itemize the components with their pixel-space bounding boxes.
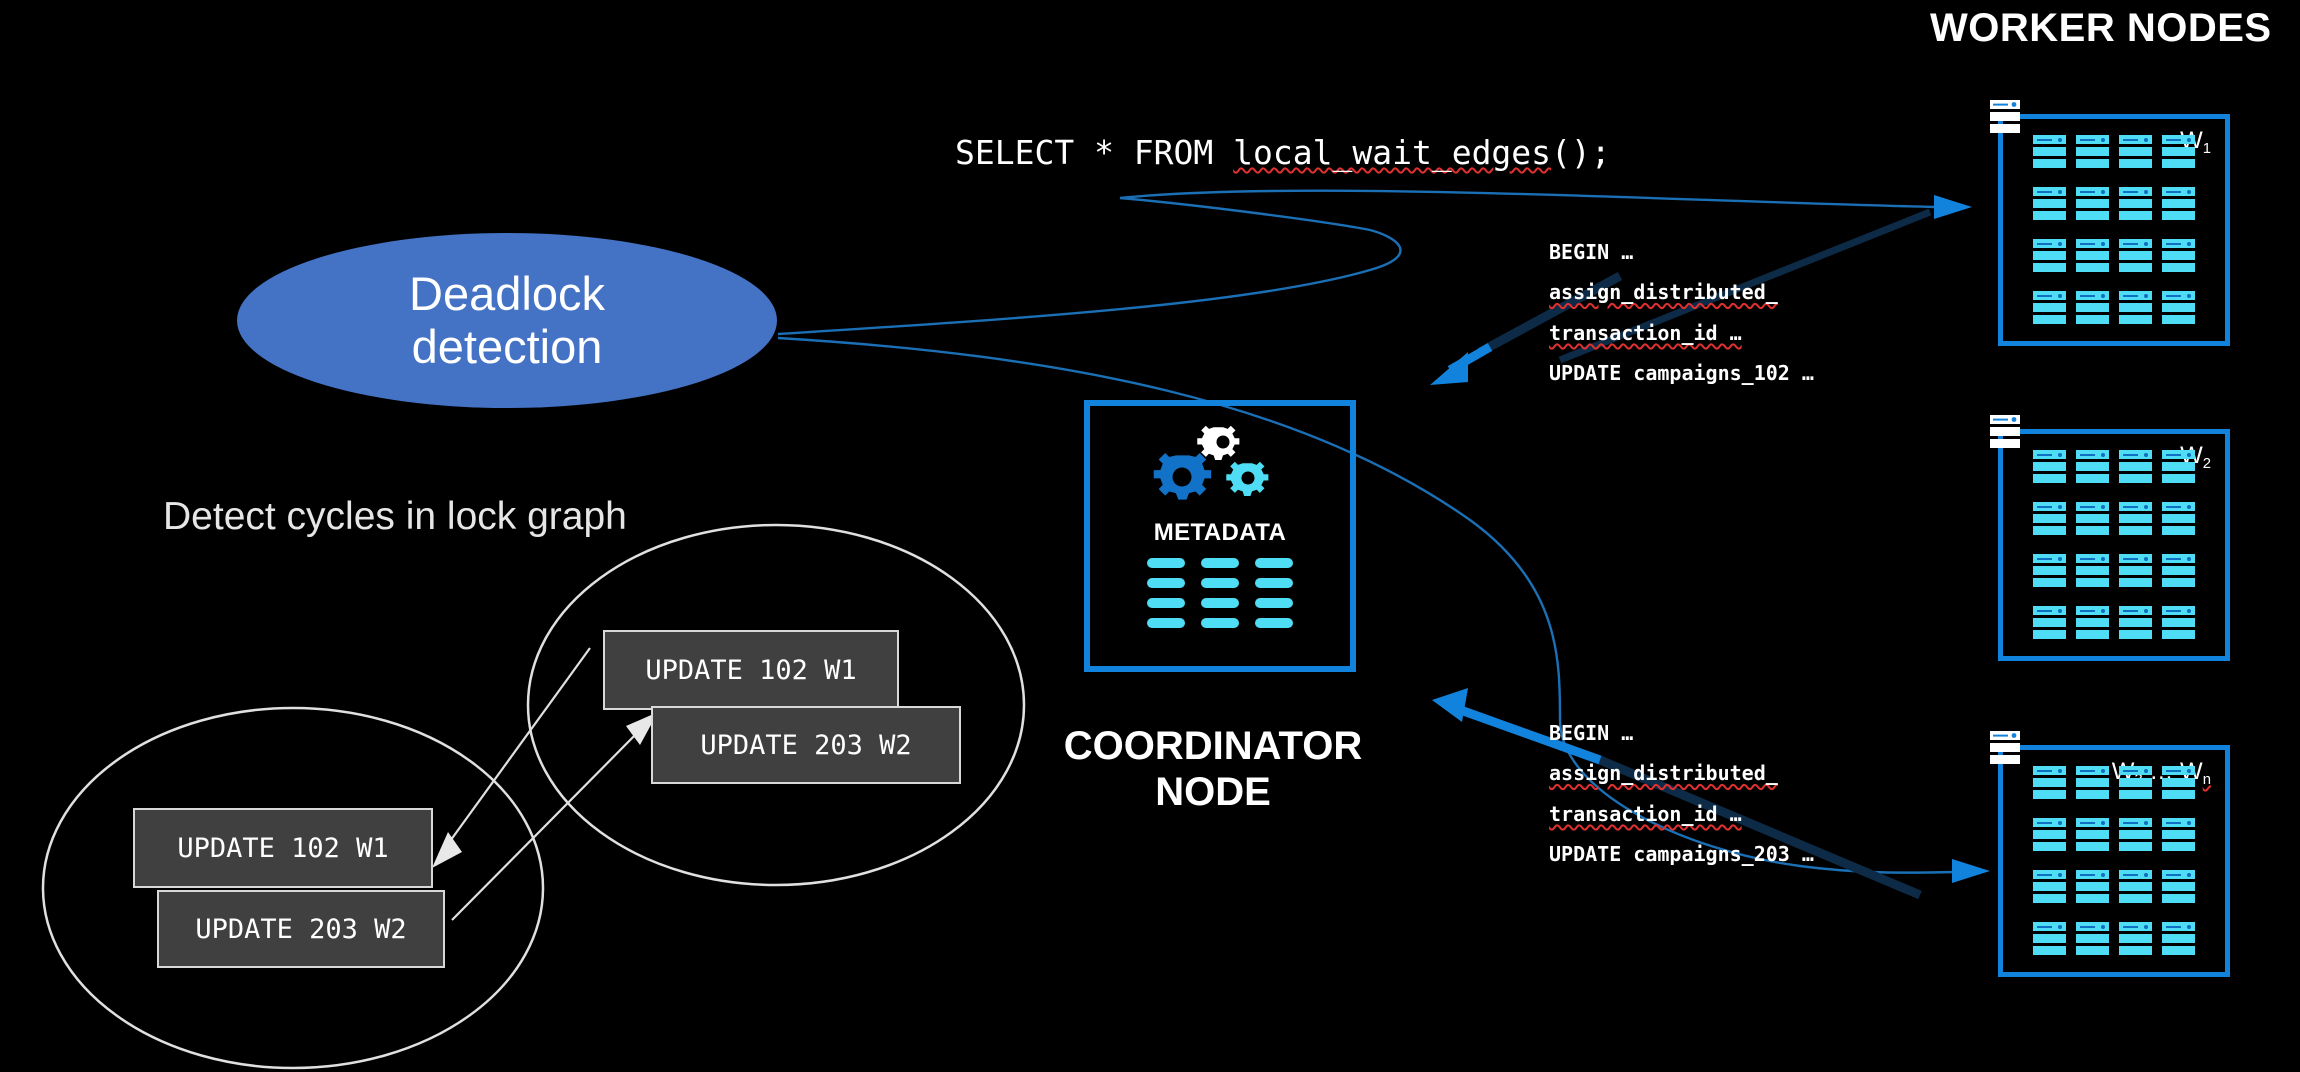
shard-block [2119, 922, 2152, 956]
shard-block [2033, 502, 2066, 536]
shard-block [2162, 870, 2195, 904]
shard-row [2162, 526, 2195, 535]
shard-header [2119, 291, 2152, 300]
shard-row [2162, 882, 2195, 891]
shard-row [2162, 199, 2195, 208]
shard-row [2076, 578, 2109, 587]
shard-header [2162, 187, 2195, 196]
shard-row [2119, 618, 2152, 627]
worker-nodes-title: WORKER NODES [1930, 6, 2272, 51]
shard-block [2076, 450, 2109, 484]
shard-row [2119, 147, 2152, 156]
shard-block [2076, 818, 2109, 852]
shard-row [2033, 251, 2066, 260]
lock-edge-a1-to-b1 [440, 648, 590, 855]
shard-row [2076, 842, 2109, 851]
arrowhead-into-worker1 [1934, 195, 1972, 219]
shard-row [2033, 934, 2066, 943]
shard-block [2076, 922, 2109, 956]
lock-node-b1[interactable]: UPDATE 102 W1 [133, 808, 433, 888]
shard-block [2076, 766, 2109, 800]
shard-row [2076, 211, 2109, 220]
shard-header [2076, 239, 2109, 248]
shard-row [2162, 618, 2195, 627]
shard-row [2076, 934, 2109, 943]
metadata-bar [1201, 598, 1239, 608]
shard-grid-1 [2033, 135, 2195, 325]
deadlock-detection-ellipse[interactable]: Deadlock detection [237, 233, 777, 408]
shard-block [2162, 135, 2195, 169]
shard-header [2119, 239, 2152, 248]
shard-row [2162, 842, 2195, 851]
shard-block [2119, 239, 2152, 273]
shard-row [2076, 830, 2109, 839]
shard-row [2033, 462, 2066, 471]
worker-node-card-2[interactable]: W2 [1998, 429, 2230, 661]
shard-row [2033, 882, 2066, 891]
shard-header [2119, 554, 2152, 563]
shard-row [2033, 211, 2066, 220]
shard-block [2033, 922, 2066, 956]
shard-row [2033, 514, 2066, 523]
txn102-line-2-wrap: transaction_id … [1549, 313, 1814, 353]
sql-function-name: local_wait_edges [1233, 133, 1551, 172]
shard-row [2076, 199, 2109, 208]
metadata-bar [1201, 558, 1239, 568]
metadata-bar [1255, 598, 1293, 608]
shard-block [2033, 291, 2066, 325]
shard-block [2119, 766, 2152, 800]
shard-row [2076, 894, 2109, 903]
shard-block [2119, 291, 2152, 325]
shard-row [2076, 618, 2109, 627]
shard-block [2033, 135, 2066, 169]
sql-prefix: SELECT * FROM [955, 133, 1233, 172]
shard-header [2162, 291, 2195, 300]
txn203-line-0: BEGIN … [1549, 713, 1814, 753]
shard-row [2162, 514, 2195, 523]
txn102-line-3: UPDATE campaigns_102 … [1549, 353, 1814, 393]
shard-header [2076, 187, 2109, 196]
shard-block [2076, 135, 2109, 169]
detect-cycles-caption: Detect cycles in lock graph [163, 495, 627, 539]
shard-header [2162, 239, 2195, 248]
shard-block [2033, 606, 2066, 640]
shard-row [2162, 159, 2195, 168]
shard-header [2162, 870, 2195, 879]
shard-row [2162, 630, 2195, 639]
shard-header [2033, 291, 2066, 300]
shard-block [2162, 291, 2195, 325]
shard-block [2033, 870, 2066, 904]
transaction-snippet-102: BEGIN … assign_distributed_ transaction_… [1549, 232, 1814, 394]
shard-row [2033, 830, 2066, 839]
shard-row [2076, 315, 2109, 324]
lock-node-a1[interactable]: UPDATE 102 W1 [603, 630, 899, 710]
shard-row [2119, 830, 2152, 839]
shard-row [2033, 790, 2066, 799]
server-icon [1990, 415, 2020, 452]
shard-row [2162, 303, 2195, 312]
metadata-bar [1147, 618, 1185, 628]
shard-row [2033, 159, 2066, 168]
txn203-line-1: assign_distributed_ [1549, 753, 1814, 793]
metadata-label: METADATA [1090, 519, 1350, 547]
shard-header [2076, 135, 2109, 144]
shard-header [2119, 450, 2152, 459]
shard-row [2033, 894, 2066, 903]
shard-row [2162, 790, 2195, 799]
shard-header [2162, 450, 2195, 459]
shard-row [2119, 790, 2152, 799]
shard-block [2033, 818, 2066, 852]
shard-block [2076, 606, 2109, 640]
lock-node-b2[interactable]: UPDATE 203 W2 [157, 890, 445, 968]
shard-row [2119, 630, 2152, 639]
shard-header [2119, 766, 2152, 775]
shard-block [2162, 766, 2195, 800]
shard-row [2119, 842, 2152, 851]
shard-header [2033, 818, 2066, 827]
shard-row [2162, 147, 2195, 156]
shard-row [2076, 566, 2109, 575]
shard-row [2076, 630, 2109, 639]
lock-node-a2[interactable]: UPDATE 203 W2 [651, 706, 961, 784]
shard-header [2033, 239, 2066, 248]
shard-header [2076, 450, 2109, 459]
shard-row [2076, 790, 2109, 799]
shard-block [2076, 291, 2109, 325]
shard-row [2119, 474, 2152, 483]
shard-block [2033, 554, 2066, 588]
coordinator-node-card[interactable]: METADATA [1084, 400, 1356, 672]
shard-block [2076, 554, 2109, 588]
metadata-bar [1201, 578, 1239, 588]
shard-header [2162, 135, 2195, 144]
shard-grid-2 [2033, 450, 2195, 640]
shard-header [2076, 870, 2109, 879]
shard-row [2162, 211, 2195, 220]
shard-row [2033, 946, 2066, 955]
shard-row [2162, 462, 2195, 471]
metadata-bar [1147, 598, 1185, 608]
shard-row [2119, 211, 2152, 220]
shard-row [2119, 514, 2152, 523]
server-icon [1990, 731, 2020, 768]
worker-node-card-1[interactable]: W1 [1998, 114, 2230, 346]
shard-row [2162, 830, 2195, 839]
shard-row [2076, 882, 2109, 891]
lock-arrowhead-b1 [432, 832, 462, 868]
lock-cycle-ellipse-lower [43, 708, 543, 1068]
shard-header [2033, 135, 2066, 144]
metadata-bar [1147, 578, 1185, 588]
shard-row [2033, 842, 2066, 851]
shard-row [2119, 315, 2152, 324]
shard-row [2076, 946, 2109, 955]
shard-row [2162, 251, 2195, 260]
shard-header [2119, 187, 2152, 196]
shard-header [2033, 450, 2066, 459]
worker-2-label-sub: 2 [2203, 456, 2211, 472]
shard-row [2119, 934, 2152, 943]
shard-header [2076, 502, 2109, 511]
shard-header [2076, 554, 2109, 563]
gear-blue-icon [1154, 453, 1211, 500]
shard-block [2076, 870, 2109, 904]
worker-3-label-tail-sub: n [2203, 772, 2211, 788]
shard-block [2162, 450, 2195, 484]
shard-row [2162, 894, 2195, 903]
shard-block [2162, 502, 2195, 536]
worker-node-card-3[interactable]: W3 … Wn [1998, 745, 2230, 977]
shard-row [2162, 934, 2195, 943]
shard-row [2162, 474, 2195, 483]
shard-header [2076, 606, 2109, 615]
shard-header [2033, 187, 2066, 196]
shard-header [2162, 502, 2195, 511]
shard-block [2076, 187, 2109, 221]
shard-row [2162, 578, 2195, 587]
shard-row [2162, 778, 2195, 787]
shard-row [2076, 474, 2109, 483]
shard-row [2033, 315, 2066, 324]
shard-row [2119, 526, 2152, 535]
shard-row [2076, 147, 2109, 156]
shard-header [2119, 606, 2152, 615]
shard-row [2033, 630, 2066, 639]
shard-row [2119, 263, 2152, 272]
metadata-bar [1147, 558, 1185, 568]
shard-header [2033, 554, 2066, 563]
shard-row [2119, 303, 2152, 312]
shard-row [2033, 147, 2066, 156]
shard-row [2162, 263, 2195, 272]
arrowhead-into-worker3 [1952, 859, 1990, 883]
shard-row [2162, 566, 2195, 575]
shard-block [2162, 922, 2195, 956]
shard-row [2119, 462, 2152, 471]
shard-row [2076, 251, 2109, 260]
txn203-line-2: transaction_id … [1549, 802, 1742, 826]
shard-header [2119, 870, 2152, 879]
shard-block [2033, 450, 2066, 484]
shard-header [2076, 766, 2109, 775]
arrow-txn102-to-coordinator-shaft [1450, 347, 1490, 370]
shard-header [2162, 606, 2195, 615]
shard-block [2119, 554, 2152, 588]
metadata-bar-grid [1147, 558, 1293, 628]
shard-header [2162, 818, 2195, 827]
shard-row [2076, 159, 2109, 168]
shard-header [2076, 818, 2109, 827]
shard-header [2162, 766, 2195, 775]
server-icon [1990, 100, 2020, 137]
coordinator-node-title: COORDINATOR NODE [1038, 723, 1388, 816]
shard-block [2119, 135, 2152, 169]
shard-row [2119, 882, 2152, 891]
shard-row [2162, 315, 2195, 324]
shard-block [2076, 502, 2109, 536]
txn102-line-0: BEGIN … [1549, 232, 1814, 272]
shard-block [2119, 818, 2152, 852]
shard-header [2162, 922, 2195, 931]
shard-header [2076, 291, 2109, 300]
shard-row [2119, 159, 2152, 168]
shard-block [2119, 187, 2152, 221]
shard-block [2033, 187, 2066, 221]
shard-block [2119, 502, 2152, 536]
shard-block [2162, 187, 2195, 221]
shard-header [2162, 554, 2195, 563]
gears-icon [1145, 422, 1295, 517]
deadlock-detection-label: Deadlock detection [409, 268, 605, 373]
gear-cyan-icon [1226, 462, 1268, 496]
worker-1-label-sub: 1 [2203, 141, 2211, 157]
shard-row [2033, 263, 2066, 272]
shard-row [2119, 251, 2152, 260]
shard-block [2162, 818, 2195, 852]
shard-header [2119, 502, 2152, 511]
shard-row [2033, 199, 2066, 208]
lock-edge-b2-to-a2 [452, 722, 648, 920]
shard-block [2162, 606, 2195, 640]
metadata-bar [1255, 558, 1293, 568]
shard-block [2033, 239, 2066, 273]
shard-block [2033, 766, 2066, 800]
shard-block [2119, 606, 2152, 640]
shard-row [2076, 778, 2109, 787]
gear-white-icon [1197, 426, 1239, 460]
shard-row [2119, 778, 2152, 787]
shard-block [2076, 239, 2109, 273]
arrowhead-txn203-to-coordinator [1432, 688, 1468, 722]
transaction-snippet-203: BEGIN … assign_distributed_ transaction_… [1549, 713, 1814, 875]
shard-grid-3 [2033, 766, 2195, 956]
txn102-line-1: assign_distributed_ [1549, 272, 1814, 312]
slide-canvas: Deadlock detection Detect cycles in lock… [0, 0, 2300, 1072]
shard-block [2119, 450, 2152, 484]
shard-header [2033, 922, 2066, 931]
shard-row [2033, 526, 2066, 535]
shard-row [2119, 946, 2152, 955]
sql-suffix: (); [1551, 133, 1611, 172]
txn203-line-3: UPDATE campaigns_203 … [1549, 834, 1814, 874]
shard-block [2119, 870, 2152, 904]
shard-row [2033, 618, 2066, 627]
shard-row [2119, 199, 2152, 208]
metadata-bar [1201, 618, 1239, 628]
shard-row [2119, 894, 2152, 903]
shard-block [2162, 554, 2195, 588]
shard-row [2076, 303, 2109, 312]
shard-header [2119, 818, 2152, 827]
shard-row [2033, 566, 2066, 575]
shard-header [2033, 870, 2066, 879]
shard-row [2076, 514, 2109, 523]
shard-header [2076, 922, 2109, 931]
metadata-bar [1255, 618, 1293, 628]
txn203-line-2-wrap: transaction_id … [1549, 794, 1814, 834]
shard-row [2033, 474, 2066, 483]
shard-row [2033, 303, 2066, 312]
shard-row [2076, 526, 2109, 535]
shard-row [2119, 578, 2152, 587]
txn102-line-2: transaction_id … [1549, 321, 1742, 345]
shard-row [2033, 778, 2066, 787]
shard-row [2076, 263, 2109, 272]
shard-header [2033, 606, 2066, 615]
arrowhead-txn102-to-coordinator [1430, 352, 1468, 385]
shard-row [2162, 946, 2195, 955]
shard-row [2076, 462, 2109, 471]
metadata-bar [1255, 578, 1293, 588]
shard-row [2119, 566, 2152, 575]
shard-row [2033, 578, 2066, 587]
shard-block [2162, 239, 2195, 273]
sql-query-line: SELECT * FROM local_wait_edges(); [955, 133, 1611, 172]
shard-header [2119, 922, 2152, 931]
shard-header [2033, 502, 2066, 511]
shard-header [2119, 135, 2152, 144]
shard-header [2033, 766, 2066, 775]
